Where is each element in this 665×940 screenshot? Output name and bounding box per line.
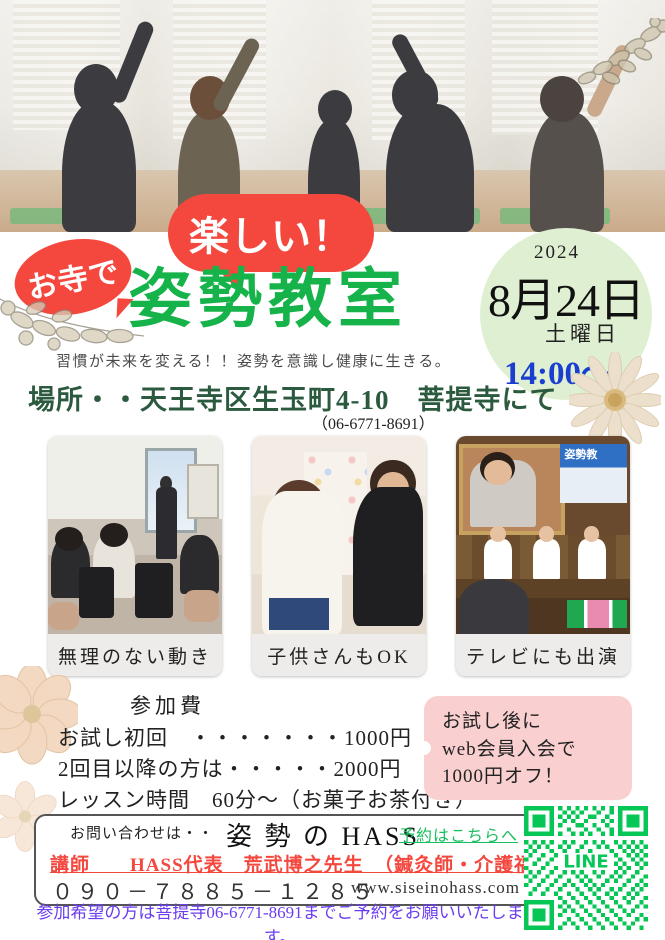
qr-line-label: LINE — [563, 852, 608, 873]
attendee-hair — [55, 527, 83, 551]
promo-line-1: お試し後に — [442, 708, 577, 736]
event-year: 2024 — [480, 242, 634, 264]
tv-panelist — [484, 539, 512, 579]
instructor-body — [156, 487, 177, 558]
chair — [79, 567, 114, 618]
foreground-viewer — [459, 579, 529, 634]
photo-scene: 姿勢教 — [456, 436, 630, 634]
bubble-tanoshii: 楽しい！ — [168, 194, 374, 272]
instructor-body — [353, 487, 423, 626]
footer-note: 参加希望の方は菩提寺06-6771-8691までご予約をお願いいたします。 — [30, 898, 530, 940]
price-heading: 参加費 — [130, 690, 205, 720]
tv-caption-text: 姿勢教 — [564, 446, 597, 462]
photo-caption: 子供さんもOK — [252, 634, 426, 676]
tv-panelist-head — [539, 526, 555, 542]
tv-guest-face — [484, 460, 512, 486]
photo-scene — [252, 436, 426, 634]
attendee — [180, 535, 218, 594]
photo-scene — [48, 436, 222, 634]
botanical-branch-icon — [531, 18, 665, 128]
tv-program-logo — [567, 600, 626, 628]
promo-line-3: 1000円オフ！ — [442, 763, 577, 791]
attendee-leg — [184, 590, 219, 622]
brand-name: 姿 勢 の HASS — [226, 816, 420, 853]
tv-panelist — [578, 539, 606, 579]
contact-box: お問い合わせは・・ 姿 勢 の HASS 予約はこちらへ 講師 HASS代表 荒… — [34, 814, 538, 906]
price-line-first-trial: お試し初回 ・・・・・・・1000円 — [58, 722, 412, 752]
tv-caption-banner: 姿勢教 — [560, 444, 626, 503]
inquiry-label: お問い合わせは・・ — [70, 822, 214, 843]
venue-phone: （06-6771-8691） — [312, 410, 435, 434]
photo-caption: テレビにも出演 — [456, 634, 630, 676]
photo-card: 姿勢教 テレビにも出演 — [456, 436, 630, 676]
participant-silhouette — [386, 104, 474, 232]
photo-card: 子供さんもOK — [252, 436, 426, 676]
instructor-line: 講師 HASS代表 荒武博之先生 （鍼灸師・介護福祉士） — [50, 850, 522, 877]
promo-text: お試し後に web会員入会で 1000円オフ！ — [442, 708, 577, 791]
promo-discount-box: お試し後に web会員入会で 1000円オフ！ — [424, 696, 632, 800]
page-subtitle: 習慣が未来を変える！！姿勢を意識し健康に生きる。 — [56, 350, 451, 371]
participant-silhouette — [62, 102, 136, 232]
qr-code-icon: LINE — [524, 806, 648, 930]
child-jeans — [269, 598, 328, 630]
photo-tv-appearance: 姿勢教 — [456, 436, 630, 634]
photo-card: 無理のない動き — [48, 436, 222, 676]
attendee-hair — [100, 523, 128, 547]
photo-card-list: 無理のない動き 子供さんもOK — [48, 436, 626, 676]
page-title: 姿勢教室 — [128, 268, 408, 332]
attendee-leg — [48, 602, 79, 630]
price-line-duration: レッスン時間 60分〜（お菓子お茶付き） — [58, 784, 477, 814]
event-weekday: 土曜日 — [480, 318, 642, 348]
promo-line-2: web会員入会で — [442, 736, 577, 764]
chair — [135, 563, 173, 618]
venue-text: 場所・・天王寺区生玉町4-10 菩提寺にて — [28, 378, 558, 417]
flyer-page: 楽しい！ お寺で 2024 8月24日 土曜日 14:00〜 — [0, 0, 665, 940]
photo-child-instructor — [252, 436, 426, 634]
price-line-repeat: 2回目以降の方は・・・・・2000円 — [58, 753, 402, 783]
whiteboard — [187, 464, 219, 519]
contact-website[interactable]: www.siseinohass.com — [351, 878, 520, 898]
tv-panelist-head — [584, 526, 600, 542]
photo-seminar-room — [48, 436, 222, 634]
promo-scallop-right — [626, 690, 639, 806]
instructor-head — [318, 90, 352, 128]
tv-panelist — [533, 539, 561, 579]
tv-panelist-head — [490, 526, 506, 542]
line-qr-code[interactable]: LINE — [524, 806, 648, 930]
participant-silhouette — [530, 112, 604, 232]
reservation-link[interactable]: 予約はこちらへ — [399, 822, 518, 846]
